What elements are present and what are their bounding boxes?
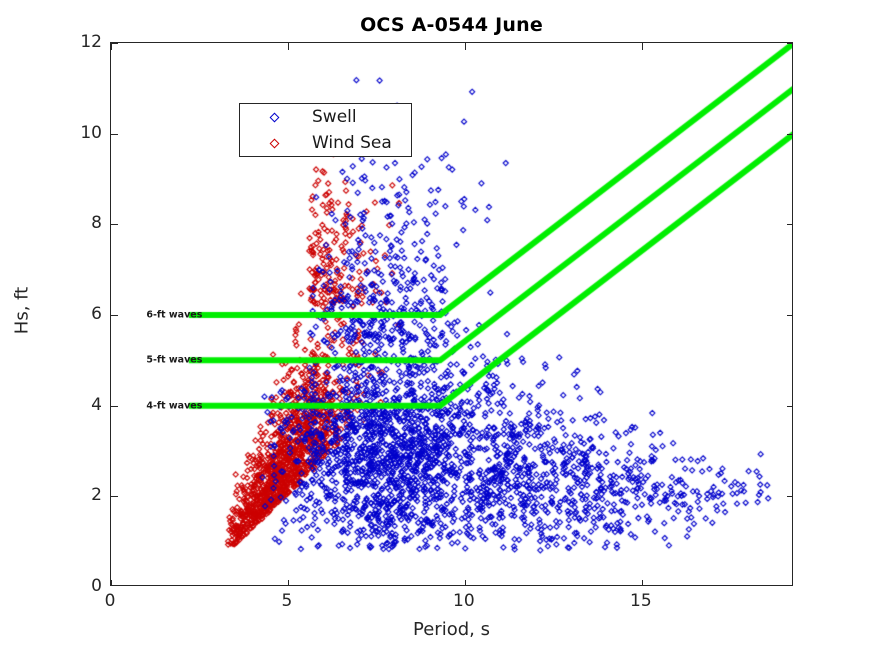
swell-marker-icon <box>269 113 279 123</box>
x-tick-top-5 <box>288 43 289 50</box>
y-tick-label-2: 2 <box>91 485 102 505</box>
wind-sea-marker-icon <box>269 139 279 149</box>
y-tick-label-8: 8 <box>91 213 102 233</box>
threshold-label-4ft: 4-ft waves <box>146 400 202 411</box>
x-axis-tick-labels: 051015 <box>110 591 793 617</box>
y-tick-right-10 <box>787 134 793 135</box>
y-tick-label-4: 4 <box>91 395 102 415</box>
y-tick-2 <box>111 496 118 497</box>
y-tick-right-12 <box>787 43 793 44</box>
y-tick-6 <box>111 315 118 316</box>
y-tick-right-4 <box>787 406 793 407</box>
x-tick-label-0: 0 <box>105 591 116 611</box>
legend-box[interactable]: Swell Wind Sea <box>239 103 412 157</box>
x-tick-0 <box>111 580 112 586</box>
y-tick-label-12: 12 <box>80 32 102 52</box>
x-tick-top-0 <box>111 43 112 50</box>
y-tick-12 <box>111 43 118 44</box>
y-tick-8 <box>111 224 118 225</box>
chart-title: OCS A-0544 June <box>110 14 793 36</box>
legend-label-wind-sea: Wind Sea <box>312 130 392 157</box>
plot-area[interactable]: 6-ft waves5-ft waves4-ft waves Swell Win… <box>110 42 793 586</box>
x-tick-15 <box>642 580 643 586</box>
x-tick-top-15 <box>642 43 643 50</box>
y-tick-right-8 <box>787 224 793 225</box>
y-tick-label-10: 10 <box>80 123 102 143</box>
legend-label-swell: Swell <box>312 104 357 131</box>
y-tick-label-6: 6 <box>91 304 102 324</box>
legend-item-swell[interactable]: Swell <box>240 104 413 131</box>
y-axis-label: Hs, ft <box>12 251 33 371</box>
y-tick-10 <box>111 134 118 135</box>
x-tick-label-10: 10 <box>453 591 475 611</box>
threshold-label-6ft: 6-ft waves <box>146 310 202 321</box>
y-axis-tick-labels: 024681012 <box>60 42 102 586</box>
x-tick-10 <box>465 580 466 586</box>
x-tick-label-5: 5 <box>282 591 293 611</box>
y-tick-label-0: 0 <box>91 576 102 596</box>
y-tick-4 <box>111 406 118 407</box>
chart-figure: OCS A-0544 June 6-ft waves5-ft waves4-ft… <box>0 0 875 656</box>
threshold-label-5ft: 5-ft waves <box>146 355 202 366</box>
y-tick-right-6 <box>787 315 793 316</box>
x-tick-label-15: 15 <box>630 591 652 611</box>
x-axis-label: Period, s <box>110 619 793 640</box>
threshold-lines-layer <box>111 43 793 586</box>
x-tick-top-10 <box>465 43 466 50</box>
legend-item-wind-sea[interactable]: Wind Sea <box>240 130 413 157</box>
y-tick-right-2 <box>787 496 793 497</box>
x-tick-5 <box>288 580 289 586</box>
